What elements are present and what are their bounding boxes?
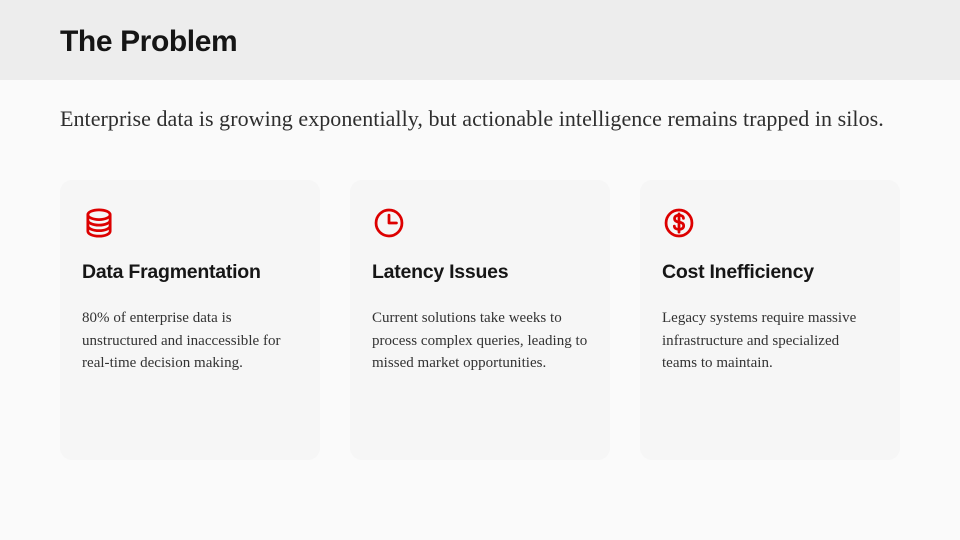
intro-paragraph: Enterprise data is growing exponentially…: [60, 106, 905, 131]
page-title: The Problem: [60, 25, 237, 59]
problem-card[interactable]: Data Fragmentation 80% of enterprise dat…: [60, 180, 320, 460]
card-title: Data Fragmentation: [82, 260, 298, 284]
database-icon: [82, 206, 116, 240]
card-body: 80% of enterprise data is unstructured a…: [82, 307, 298, 375]
slide-root: The Problem Enterprise data is growing e…: [0, 0, 960, 540]
problem-cards: Data Fragmentation 80% of enterprise dat…: [60, 180, 900, 460]
clock-icon: [372, 206, 406, 240]
card-title: Cost Inefficiency: [662, 260, 878, 284]
problem-card[interactable]: Cost Inefficiency Legacy systems require…: [640, 180, 900, 460]
dollar-circle-icon: [662, 206, 696, 240]
card-body: Legacy systems require massive infrastru…: [662, 307, 878, 375]
header-band: The Problem: [0, 0, 960, 80]
card-body: Current solutions take weeks to process …: [372, 307, 588, 375]
card-title: Latency Issues: [372, 260, 588, 284]
problem-card[interactable]: Latency Issues Current solutions take we…: [350, 180, 610, 460]
